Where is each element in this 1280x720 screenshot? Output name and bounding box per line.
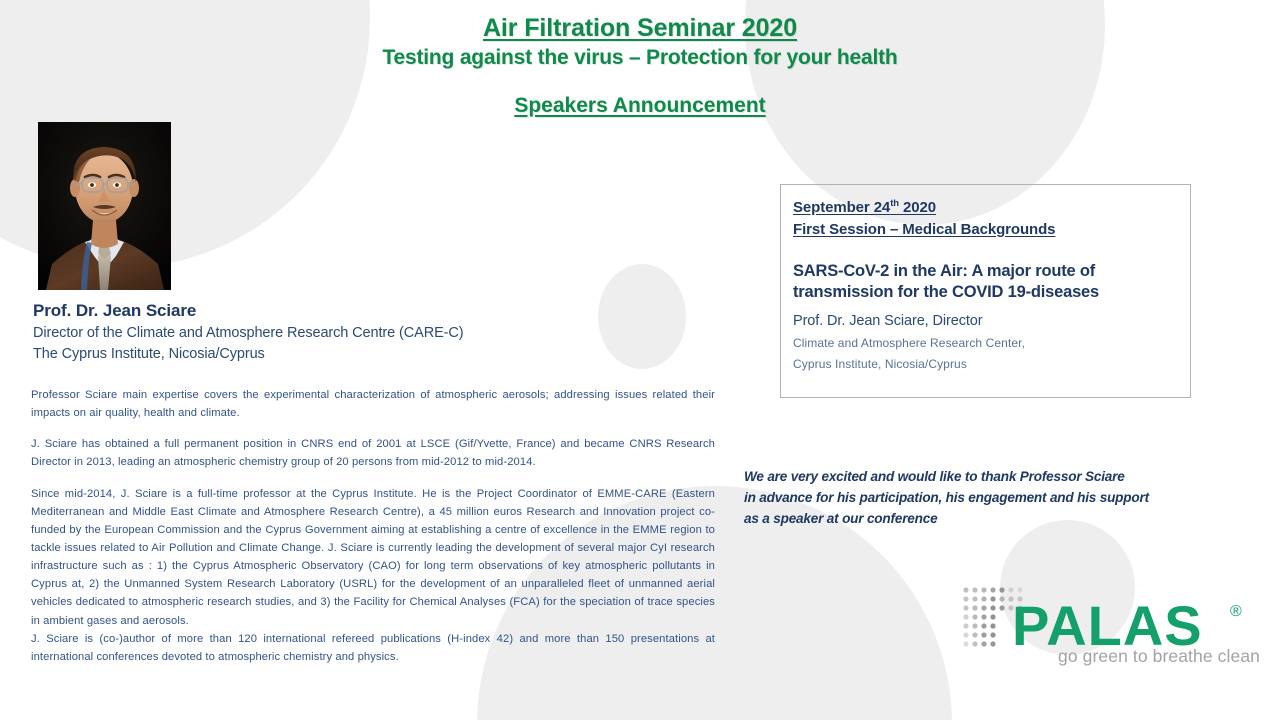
talk-title: SARS-CoV-2 in the Air: A major route of … <box>793 261 1176 305</box>
speaker-photo <box>38 122 171 290</box>
page-subtitle: Testing against the virus – Protection f… <box>150 46 1130 71</box>
speakers-announcement-heading: Speakers Announcement <box>150 94 1130 119</box>
palas-logo: PALAS ® go green to breathe clean <box>962 586 1262 686</box>
talk-organisation-line-2: Cyprus Institute, Nicosia/Cyprus <box>793 354 1176 375</box>
session-date: September 24th 2020 <box>793 197 936 219</box>
slide-canvas: Air Filtration Seminar 2020 Testing agai… <box>0 0 1280 720</box>
session-date-year: 2020 <box>899 199 936 216</box>
speaker-affiliation-line-1: Director of the Climate and Atmosphere R… <box>33 323 633 344</box>
speaker-identity: Prof. Dr. Jean Sciare Director of the Cl… <box>33 300 633 365</box>
biography-paragraph: J. Sciare has obtained a full permanent … <box>31 435 715 471</box>
speaker-biography: Professor Sciare main expertise covers t… <box>31 386 715 666</box>
session-name: First Session – Medical Backgrounds <box>793 219 1055 241</box>
biography-paragraph: Since mid-2014, J. Sciare is a full-time… <box>31 485 715 630</box>
session-info-box: September 24th 2020 First Session – Medi… <box>780 184 1191 398</box>
palas-tagline: go green to breathe clean <box>1008 646 1260 667</box>
talk-organisation-line-1: Climate and Atmosphere Research Center, <box>793 333 1176 354</box>
biography-paragraph: J. Sciare is (co-)author of more than 12… <box>31 630 715 666</box>
thank-you-line-2: in advance for his participation, his en… <box>744 487 1254 508</box>
session-date-ordinal: th <box>890 198 899 209</box>
thank-you-line-1: We are very excited and would like to th… <box>744 466 1254 487</box>
thank-you-note: We are very excited and would like to th… <box>744 466 1254 529</box>
session-date-text: September 24 <box>793 199 890 216</box>
talk-speaker: Prof. Dr. Jean Sciare, Director <box>793 311 1176 333</box>
thank-you-line-3: as a speaker at our conference <box>744 508 1254 529</box>
speaker-name: Prof. Dr. Jean Sciare <box>33 300 633 323</box>
speaker-affiliation-line-2: The Cyprus Institute, Nicosia/Cyprus <box>33 344 633 365</box>
headline-block: Air Filtration Seminar 2020 Testing agai… <box>150 14 1130 119</box>
registered-trademark-icon: ® <box>1230 603 1242 620</box>
page-title: Air Filtration Seminar 2020 <box>150 14 1130 44</box>
biography-paragraph: Professor Sciare main expertise covers t… <box>31 386 715 422</box>
